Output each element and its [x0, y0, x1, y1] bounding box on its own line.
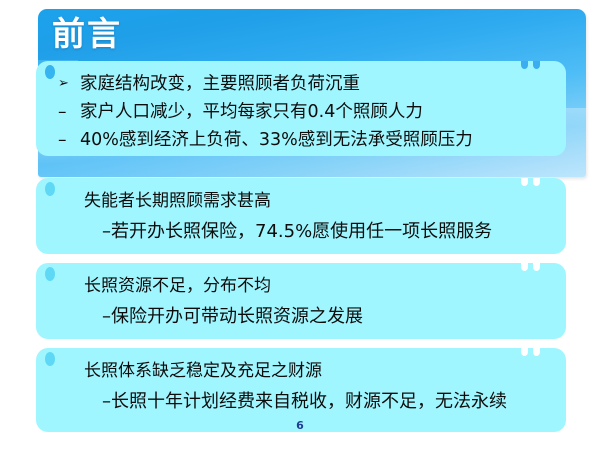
content-block-2: 失能者长期照顾需求甚高 –若开办长照保险，74.5%愿使用任一项长照服务	[36, 178, 566, 254]
block-heading: 长照资源不足，分布不均	[58, 272, 554, 301]
corner-dot-icon	[45, 267, 55, 281]
list-item-text: 40%感到经济上负荷、33%感到无法承受照顾压力	[80, 126, 554, 154]
page-title: 前言	[52, 12, 122, 56]
crown-notch-left-icon	[521, 263, 528, 271]
block-heading: 长照体系缺乏稳定及充足之财源	[58, 357, 554, 386]
block-subline: –长照十年计划经费来自税收，财源不足，无法永续	[58, 386, 554, 417]
crown-notch-right-icon	[533, 61, 540, 69]
crown-notch-right-icon	[533, 178, 540, 186]
dash-bullet-icon: –	[58, 126, 80, 154]
list-item-text: 家户人口减少，平均每家只有0.4个照顾人力	[80, 98, 554, 126]
crown-notch-right-icon	[533, 263, 540, 271]
bullet-list: ➢ 家庭结构改变，主要照顾者负荷沉重 – 家户人口减少，平均每家只有0.4个照顾…	[58, 70, 554, 154]
crown-notch-left-icon	[521, 348, 528, 356]
corner-dot-icon	[45, 65, 55, 79]
crown-notch-right-icon	[533, 348, 540, 356]
content-block-3: 长照资源不足，分布不均 –保险开办可带动长照资源之发展	[36, 263, 566, 339]
list-item-text: 家庭结构改变，主要照顾者负荷沉重	[80, 70, 554, 98]
block-subline: –若开办长照保险，74.5%愿使用任一项长照服务	[58, 216, 554, 247]
crown-notch-left-icon	[521, 61, 528, 69]
corner-dot-icon	[45, 182, 55, 196]
block-subline: –保险开办可带动长照资源之发展	[58, 301, 554, 332]
slide-canvas: 前言 ➢ 家庭结构改变，主要照顾者负荷沉重 – 家户人口减少，平均每家只有0.4…	[0, 0, 600, 450]
crown-notch-left-icon	[521, 178, 528, 186]
arrow-bullet-icon: ➢	[58, 70, 80, 98]
block-text: 长照资源不足，分布不均 –保险开办可带动长照资源之发展	[58, 272, 554, 332]
dash-bullet-icon: –	[58, 98, 80, 126]
content-block-1: ➢ 家庭结构改变，主要照顾者负荷沉重 – 家户人口减少，平均每家只有0.4个照顾…	[36, 61, 566, 156]
list-item: ➢ 家庭结构改变，主要照顾者负荷沉重	[58, 70, 554, 98]
corner-dot-icon	[45, 352, 55, 366]
page-number: 6	[0, 419, 600, 432]
block-heading: 失能者长期照顾需求甚高	[58, 187, 554, 216]
block-text: 长照体系缺乏稳定及充足之财源 –长照十年计划经费来自税收，财源不足，无法永续	[58, 357, 554, 417]
list-item: – 40%感到经济上负荷、33%感到无法承受照顾压力	[58, 126, 554, 154]
block-text: 失能者长期照顾需求甚高 –若开办长照保险，74.5%愿使用任一项长照服务	[58, 187, 554, 247]
list-item: – 家户人口减少，平均每家只有0.4个照顾人力	[58, 98, 554, 126]
